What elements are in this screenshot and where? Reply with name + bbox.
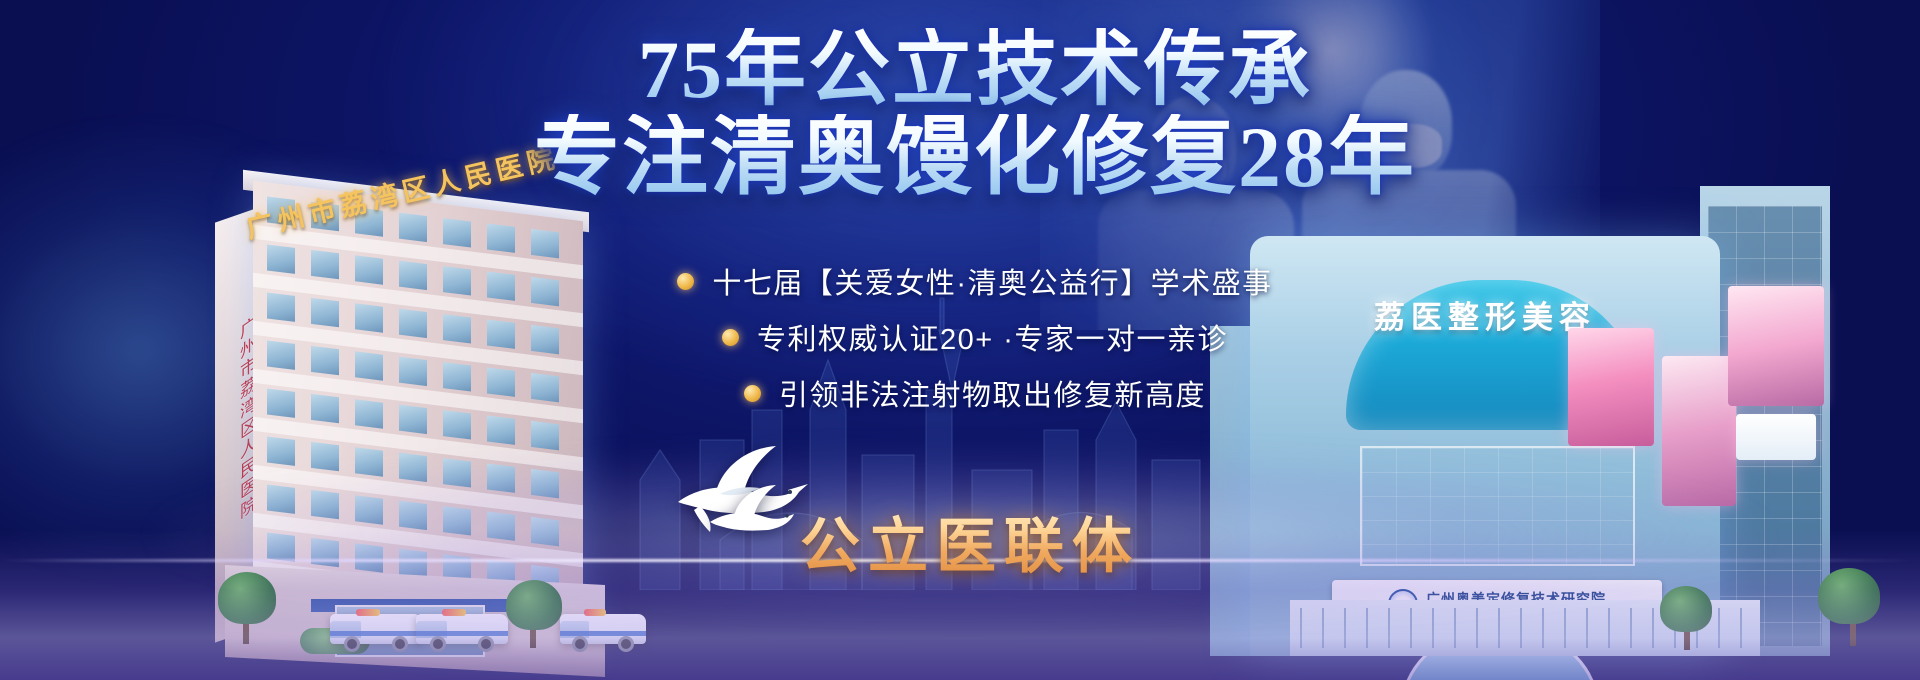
hospital-window — [355, 447, 383, 476]
hospital-window — [399, 405, 427, 434]
bullet-item-2: 专利权威认证20+ ·专家一对一亲诊 — [470, 316, 1480, 358]
hospital-window — [311, 442, 339, 471]
bullet-item-3: 引领非法注射物取出修复新高度 — [470, 372, 1480, 414]
promo-banner: 广州市荔湾区人民医院 — [0, 0, 1920, 680]
hospital-window — [267, 388, 295, 417]
headline-block: 75年公立技术传承 专注清奥馒化修复28年 — [470, 28, 1480, 201]
gold-dot-icon — [722, 329, 739, 346]
hospital-window — [355, 303, 383, 332]
bullet-text-3: 引领非法注射物取出修复新高度 — [779, 372, 1206, 414]
bullet-text-2: 专利权威认证20+ ·专家一对一亲诊 — [757, 316, 1228, 358]
bullet-item-1: 十七届【关爱女性·清奥公益行】学术盛事 — [470, 260, 1480, 302]
hospital-window — [443, 410, 471, 439]
hospital-window — [443, 362, 471, 391]
gold-subtitle: 公立医联体 — [800, 498, 1140, 585]
gold-dot-icon — [744, 385, 761, 402]
hospital-window — [443, 314, 471, 343]
hospital-window — [311, 346, 339, 375]
headline-line-2: 专注清奥馒化修复28年 — [470, 114, 1480, 202]
hospital-window — [355, 351, 383, 380]
clinic-ad-poster-2 — [1662, 356, 1736, 506]
dove-icon-small — [700, 482, 796, 544]
hospital-window — [311, 394, 339, 423]
hospital-window — [399, 357, 427, 386]
gold-dot-icon — [677, 273, 694, 290]
bullet-list: 十七届【关爱女性·清奥公益行】学术盛事 专利权威认证20+ ·专家一对一亲诊 引… — [470, 260, 1480, 428]
hospital-window — [267, 340, 295, 369]
hospital-window — [355, 399, 383, 428]
clinic-ad-poster-3 — [1728, 286, 1824, 406]
hospital-window — [267, 436, 295, 465]
bullet-text-1: 十七届【关爱女性·清奥公益行】学术盛事 — [712, 260, 1272, 302]
hospital-window — [399, 309, 427, 338]
clinic-ad-poster-4 — [1736, 414, 1816, 460]
headline-line-1: 75年公立技术传承 — [470, 28, 1480, 112]
clinic-ad-poster-1 — [1568, 328, 1654, 446]
